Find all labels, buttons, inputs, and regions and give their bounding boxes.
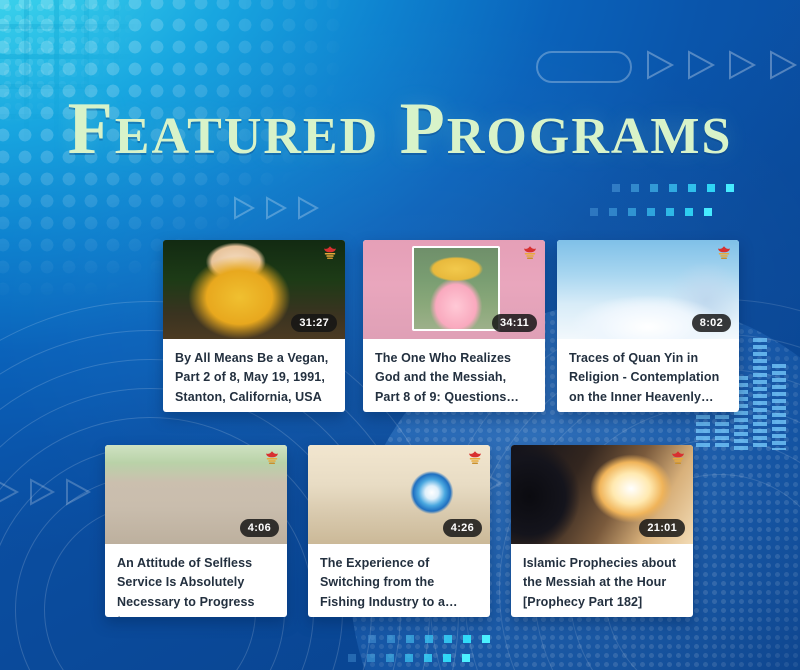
duration-badge: 34:11 bbox=[492, 314, 537, 332]
card-thumbnail[interactable]: 21:01 bbox=[511, 445, 693, 544]
card-title[interactable]: The One Who Realizes God and the Messiah… bbox=[375, 349, 533, 407]
card-title[interactable]: Traces of Quan Yin in Religion - Contemp… bbox=[569, 349, 727, 407]
card-title[interactable]: An Attitude of Selfless Service Is Absol… bbox=[117, 554, 275, 617]
card-body: Islamic Prophecies about the Messiah at … bbox=[511, 544, 693, 617]
card-body: By All Means Be a Vegan, Part 2 of 8, Ma… bbox=[163, 339, 345, 412]
card-title[interactable]: The Experience of Switching from the Fis… bbox=[320, 554, 478, 612]
supreme-master-tv-logo-icon bbox=[263, 450, 281, 466]
card-body: The Experience of Switching from the Fis… bbox=[308, 544, 490, 617]
supreme-master-tv-logo-icon bbox=[669, 450, 687, 466]
program-card[interactable]: 21:01 Islamic Prophecies about the Messi… bbox=[511, 445, 693, 617]
supreme-master-tv-logo-icon bbox=[521, 245, 539, 261]
card-body: Traces of Quan Yin in Religion - Contemp… bbox=[557, 339, 739, 412]
card-thumbnail[interactable]: 8:02 bbox=[557, 240, 739, 339]
card-thumbnail[interactable]: 31:27 bbox=[163, 240, 345, 339]
card-thumbnail[interactable]: 4:26 bbox=[308, 445, 490, 544]
duration-badge: 21:01 bbox=[639, 519, 685, 537]
supreme-master-tv-logo-icon bbox=[321, 245, 339, 261]
card-thumbnail[interactable]: 4:06 bbox=[105, 445, 287, 544]
duration-badge: 4:26 bbox=[443, 519, 482, 537]
program-card[interactable]: 31:27 By All Means Be a Vegan, Part 2 of… bbox=[163, 240, 345, 412]
supreme-master-tv-logo-icon bbox=[466, 450, 484, 466]
card-thumbnail[interactable]: 34:11 bbox=[363, 240, 545, 339]
duration-badge: 8:02 bbox=[692, 314, 731, 332]
duration-badge: 31:27 bbox=[291, 314, 337, 332]
card-title[interactable]: Islamic Prophecies about the Messiah at … bbox=[523, 554, 681, 612]
program-card[interactable]: 4:26 The Experience of Switching from th… bbox=[308, 445, 490, 617]
card-title[interactable]: By All Means Be a Vegan, Part 2 of 8, Ma… bbox=[175, 349, 333, 407]
card-body: An Attitude of Selfless Service Is Absol… bbox=[105, 544, 287, 617]
duration-badge: 4:06 bbox=[240, 519, 279, 537]
featured-programs-banner: Featured Programs 31:27 By All Means Be … bbox=[0, 0, 800, 670]
program-card-grid: 31:27 By All Means Be a Vegan, Part 2 of… bbox=[0, 0, 800, 670]
card-body: The One Who Realizes God and the Messiah… bbox=[363, 339, 545, 412]
program-card[interactable]: 8:02 Traces of Quan Yin in Religion - Co… bbox=[557, 240, 739, 412]
program-card[interactable]: 34:11 The One Who Realizes God and the M… bbox=[363, 240, 545, 412]
program-card[interactable]: 4:06 An Attitude of Selfless Service Is … bbox=[105, 445, 287, 617]
supreme-master-tv-logo-icon bbox=[715, 245, 733, 261]
